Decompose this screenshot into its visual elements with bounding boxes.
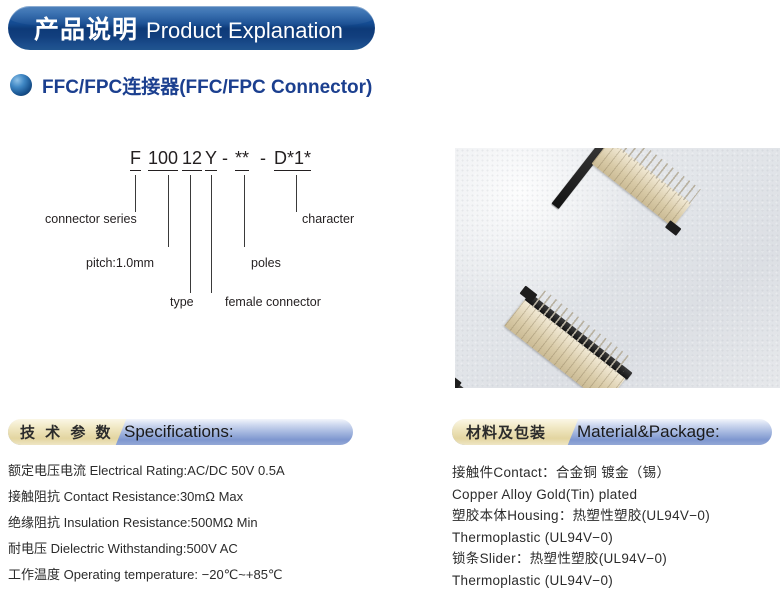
specification-row: 接触阻抗 Contact Resistance:30mΩ Max bbox=[8, 484, 438, 510]
specifications-band: 技 术 参 数 Specifications: bbox=[8, 419, 353, 445]
material-row: 接触件Contact：合金铜 镀金（锡） bbox=[452, 462, 780, 484]
leader-line bbox=[168, 175, 169, 247]
specifications-band-en: Specifications: bbox=[124, 422, 234, 442]
title-banner: 产品说明Product Explanation bbox=[8, 6, 375, 50]
part-number-label: pitch:1.0mm bbox=[86, 256, 154, 270]
specification-row: 耐电压 Dielectric Withstanding:500V AC bbox=[8, 536, 438, 562]
title-banner-en: Product Explanation bbox=[146, 18, 343, 43]
part-number-code: F10012Y-**-D*1* bbox=[0, 148, 440, 174]
material-band: 材料及包装 Material&Package: bbox=[452, 419, 772, 445]
part-number-segment: 12 bbox=[182, 148, 202, 171]
material-row: Thermoplastic (UL94V−0) bbox=[452, 570, 780, 592]
specifications-list: 额定电压电流 Electrical Rating:AC/DC 50V 0.5A接… bbox=[8, 458, 438, 588]
product-explanation-page: 产品说明Product Explanation FFC/FPC连接器(FFC/F… bbox=[0, 0, 780, 592]
title-banner-cn: 产品说明 bbox=[34, 16, 138, 44]
material-row: Copper Alloy Gold(Tin) plated bbox=[452, 484, 780, 506]
material-band-cn: 材料及包装 bbox=[466, 422, 546, 443]
section-heading: FFC/FPC连接器(FFC/FPC Connector) bbox=[10, 70, 372, 100]
part-number-segment: 100 bbox=[148, 148, 178, 171]
part-number-segment: F bbox=[130, 148, 141, 171]
part-number-segment: ** bbox=[235, 148, 249, 171]
leader-line bbox=[296, 175, 297, 212]
leader-line bbox=[211, 175, 212, 293]
material-row: 锁条Slider：热塑性塑胶(UL94V−0) bbox=[452, 548, 780, 570]
material-row: 塑胶本体Housing：热塑性塑胶(UL94V−0) bbox=[452, 505, 780, 527]
part-number-label: poles bbox=[251, 256, 281, 270]
part-number-segment: Y bbox=[205, 148, 217, 171]
specifications-band-cn: 技 术 参 数 bbox=[20, 422, 114, 443]
part-number-segment: - bbox=[222, 148, 228, 169]
material-list: 接触件Contact：合金铜 镀金（锡）Copper Alloy Gold(Ti… bbox=[452, 462, 780, 591]
sphere-bullet-icon bbox=[10, 74, 32, 96]
part-number-label: character bbox=[302, 212, 354, 226]
part-number-segment: D*1* bbox=[274, 148, 311, 171]
leader-line bbox=[190, 175, 191, 293]
part-number-diagram: F10012Y-**-D*1* connector seriescharacte… bbox=[0, 140, 440, 320]
part-number-segment: - bbox=[260, 148, 266, 169]
leader-line bbox=[135, 175, 136, 212]
material-row: Thermoplastic (UL94V−0) bbox=[452, 527, 780, 549]
part-number-label: type bbox=[170, 295, 194, 309]
section-heading-label: FFC/FPC连接器(FFC/FPC Connector) bbox=[42, 72, 372, 99]
leader-line bbox=[244, 175, 245, 247]
product-photo bbox=[455, 148, 780, 388]
material-band-en: Material&Package: bbox=[577, 422, 720, 442]
part-number-label: female connector bbox=[225, 295, 321, 309]
title-banner-text: 产品说明Product Explanation bbox=[34, 10, 343, 46]
specification-row: 工作温度 Operating temperature: −20℃~+85℃ bbox=[8, 562, 438, 588]
specification-row: 绝缘阻抗 Insulation Resistance:500MΩ Min bbox=[8, 510, 438, 536]
specification-row: 额定电压电流 Electrical Rating:AC/DC 50V 0.5A bbox=[8, 458, 438, 484]
part-number-label: connector series bbox=[45, 212, 137, 226]
